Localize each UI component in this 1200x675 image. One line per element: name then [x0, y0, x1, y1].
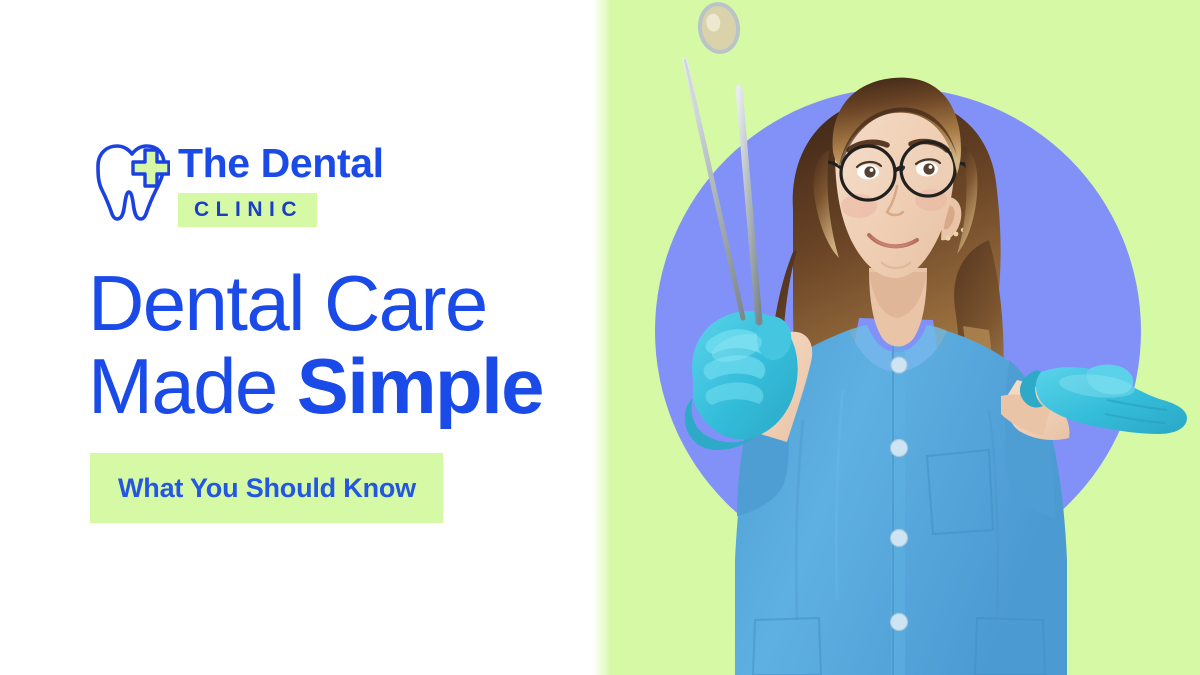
- subtitle-badge: What You Should Know: [90, 453, 443, 523]
- page-title: Dental Care Made Simple: [88, 262, 608, 428]
- tooth-with-cross-icon: [90, 140, 170, 222]
- headline-line-1: Dental Care: [88, 262, 608, 345]
- left-content-panel: The Dental CLINIC Dental Care Made Simpl…: [0, 0, 600, 675]
- poster-canvas: The Dental CLINIC Dental Care Made Simpl…: [0, 0, 1200, 675]
- subtitle-text: What You Should Know: [118, 473, 416, 503]
- dentist-photo: [597, 0, 1200, 675]
- brand-logo[interactable]: The Dental CLINIC: [90, 138, 430, 233]
- headline-line-2-regular: Made: [88, 342, 297, 430]
- brand-name: The Dental: [178, 138, 384, 188]
- headline-line-2: Made Simple: [88, 345, 608, 428]
- headline-emphasis: Simple: [297, 342, 543, 430]
- brand-clinic-badge: CLINIC: [178, 193, 317, 227]
